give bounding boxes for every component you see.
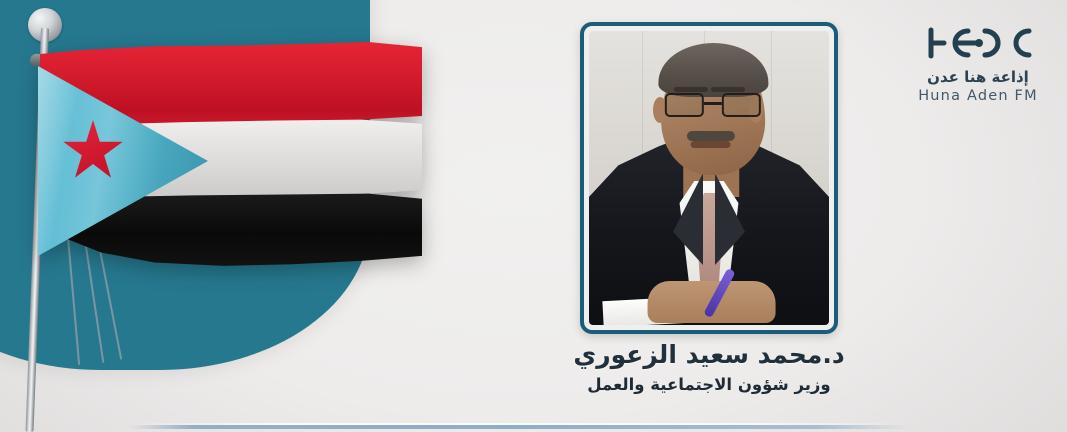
portrait-mouth (691, 141, 731, 148)
south-yemen-flag (40, 42, 422, 274)
logo-arabic-text: إذاعة هنا عدن (903, 68, 1053, 86)
logo-center-dot (975, 39, 983, 47)
portrait-eyebrow (674, 87, 708, 92)
hdc-logo-icon (922, 22, 1034, 64)
bottom-rule (130, 425, 910, 429)
logo-english-text: Huna Aden FM (903, 88, 1053, 104)
portrait-moustache (687, 131, 735, 141)
person-name: د.محمد سعيد الزعوري (500, 340, 918, 370)
broadcast-lower-third: د.محمد سعيد الزعوري وزير شؤون الاجتماعية… (0, 0, 1067, 432)
eyeglasses-icon (665, 93, 761, 117)
flag-assembly (0, 0, 440, 432)
portrait-photo (589, 31, 829, 325)
portrait-eyebrow (711, 87, 745, 92)
station-logo: إذاعة هنا عدن Huna Aden FM (903, 22, 1053, 104)
caption-block: د.محمد سعيد الزعوري وزير شؤون الاجتماعية… (500, 340, 918, 394)
person-role: وزير شؤون الاجتماعية والعمل (500, 375, 918, 395)
portrait-frame (580, 22, 838, 334)
